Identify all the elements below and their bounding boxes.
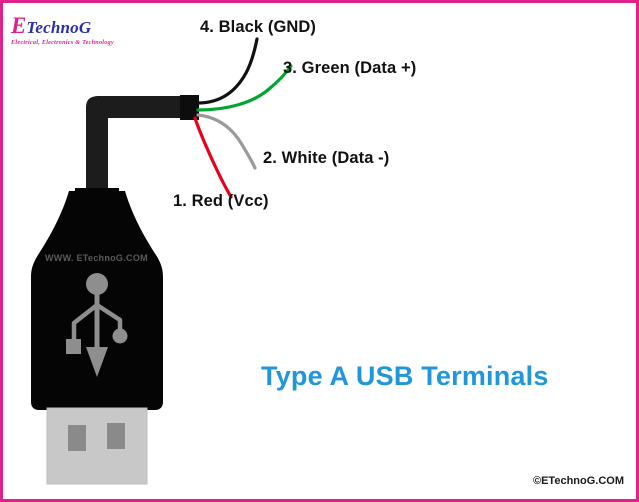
diagram-canvas: ETechnoG Electrical, Electronics & Techn… xyxy=(0,0,639,502)
watermark-text: WWW. ETechnoG.COM xyxy=(45,253,148,263)
wire-red-vcc xyxy=(195,118,231,197)
copyright-credit: ©ETechnoG.COM xyxy=(533,475,624,487)
wire-label-green-data-plus: 3. Green (Data +) xyxy=(283,59,416,78)
usb-metal-shell xyxy=(47,408,147,484)
wire-label-red-vcc: 1. Red (Vcc) xyxy=(173,192,269,211)
shell-notch-right xyxy=(107,423,125,449)
diagram-title: Type A USB Terminals xyxy=(261,361,549,392)
cable-wire-exit-block xyxy=(180,95,199,120)
wire-label-black-gnd: 4. Black (GND) xyxy=(200,18,316,37)
wire-white-data-minus xyxy=(198,115,255,168)
wire-label-white-data-minus: 2. White (Data -) xyxy=(263,149,389,168)
shell-notch-left xyxy=(68,425,86,451)
wire-black-gnd xyxy=(198,39,257,103)
